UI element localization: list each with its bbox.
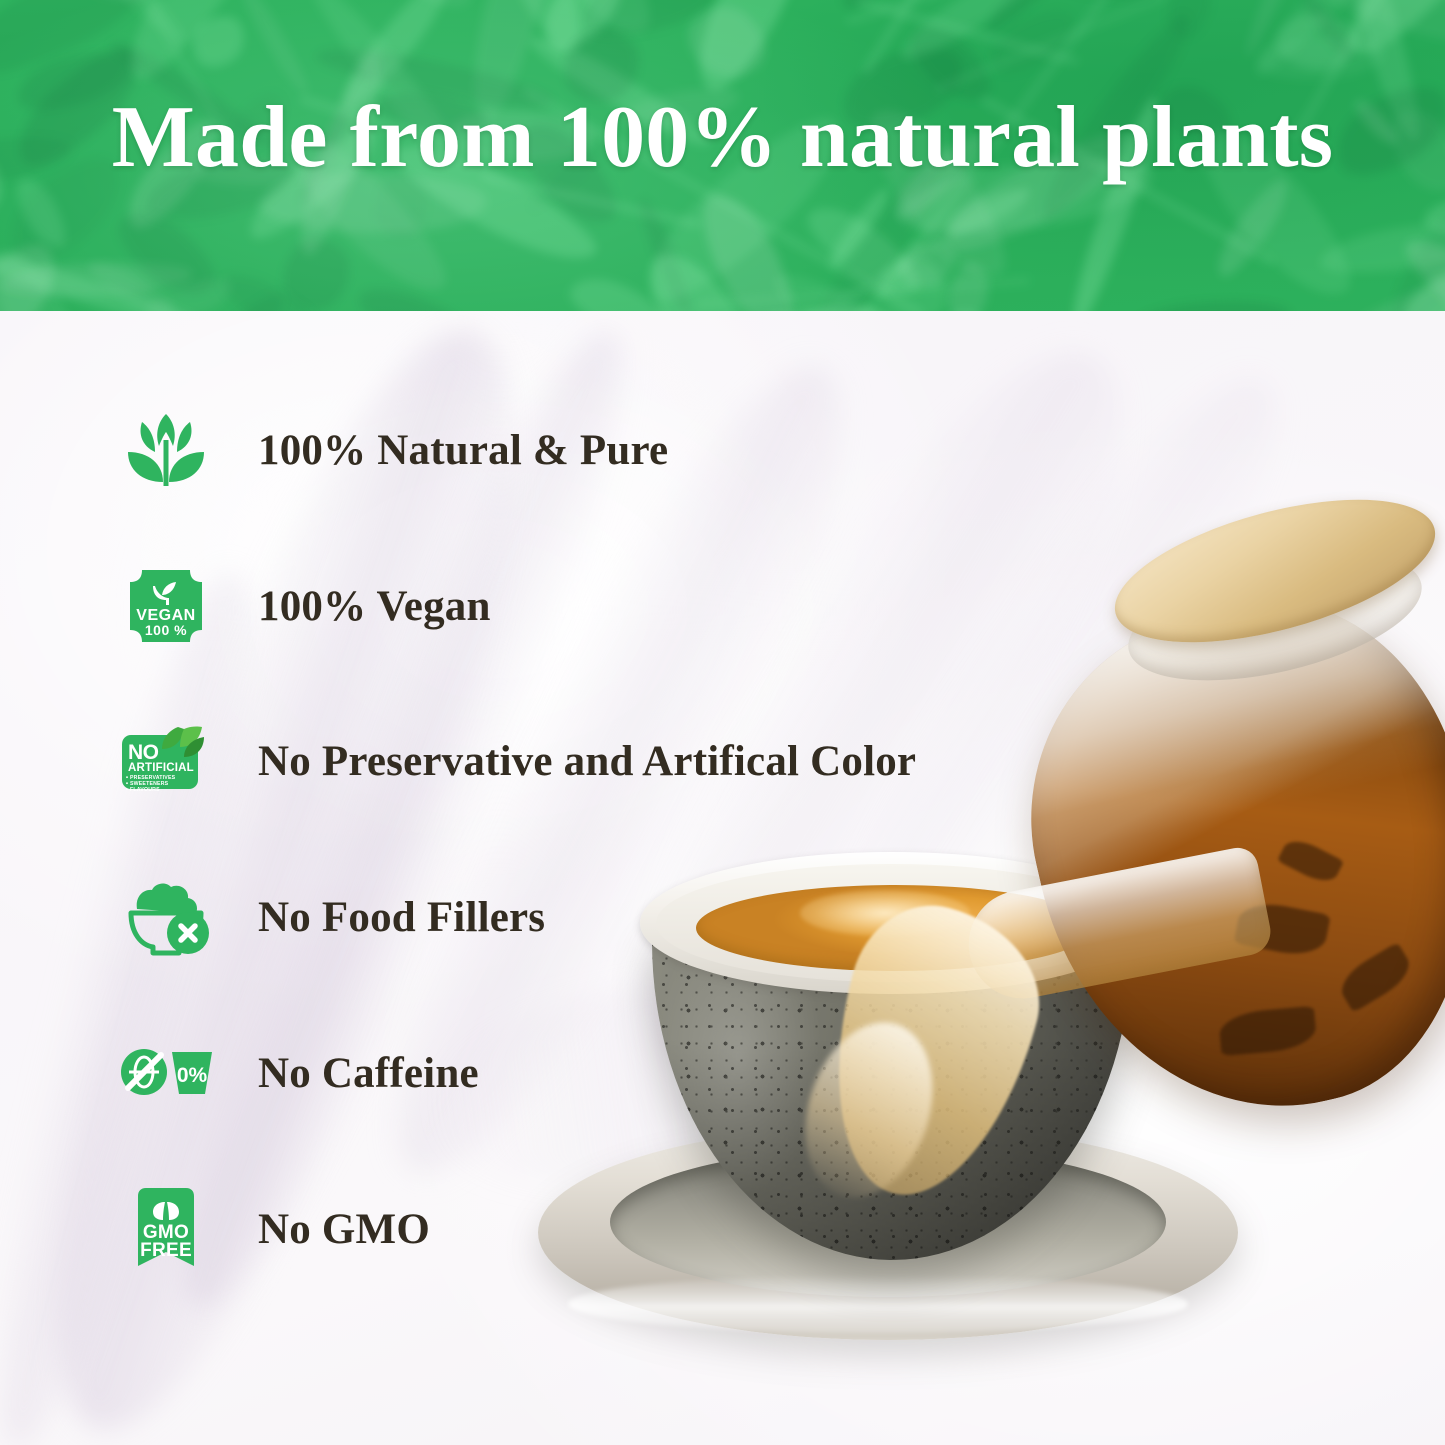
feature-label: 100% Vegan [258, 585, 491, 628]
product-feature-poster: Made from 100% natural plants [0, 0, 1445, 1445]
feature-item-no-food-fillers[interactable]: No Food Fillers [118, 867, 545, 967]
no-artificial-artificial-text: ARTIFICIAL [128, 762, 194, 774]
tea-leaf [1277, 834, 1344, 888]
plant-sprout-icon [118, 402, 214, 498]
feature-label: No GMO [258, 1208, 430, 1251]
feature-label: 100% Natural & Pure [258, 429, 668, 472]
no-artificial-bullet-3: FLAVOURS [130, 787, 160, 793]
no-caffeine-zero-percent: 0% [177, 1064, 208, 1087]
feature-item-vegan[interactable]: VEGAN 100 % 100% Vegan [118, 556, 491, 656]
no-artificial-badge-icon: NO ARTIFICIAL PRESERVATIVES SWEETENERS F… [118, 713, 214, 809]
feature-item-no-caffeine[interactable]: 0% No Caffeine [118, 1023, 479, 1123]
tea-leaf [1218, 1006, 1317, 1056]
feature-item-no-artificial[interactable]: NO ARTIFICIAL PRESERVATIVES SWEETENERS F… [118, 711, 916, 811]
no-artificial-no-text: NO [128, 741, 159, 764]
product-photo [500, 470, 1445, 1370]
page-title: Made from 100% natural plants [0, 92, 1445, 184]
feature-item-natural-pure[interactable]: 100% Natural & Pure [118, 400, 668, 500]
no-food-fillers-icon [118, 869, 214, 965]
no-caffeine-icon: 0% [118, 1025, 214, 1121]
gmo-free-badge-icon: GMO FREE [118, 1181, 214, 1277]
header-banner: Made from 100% natural plants [0, 0, 1445, 311]
feature-item-no-gmo[interactable]: GMO FREE No GMO [118, 1179, 430, 1279]
tea-leaf [1334, 942, 1417, 1013]
feature-label: No Preservative and Artifical Color [258, 740, 916, 783]
feature-label: No Caffeine [258, 1052, 479, 1095]
vegan-badge-line2: 100 % [145, 622, 187, 638]
vegan-badge-icon: VEGAN 100 % [118, 558, 214, 654]
glass-teapot [1005, 550, 1445, 1140]
gmo-badge-line2: FREE [140, 1240, 192, 1261]
saucer-highlight [568, 1275, 1188, 1333]
feature-label: No Food Fillers [258, 896, 545, 939]
